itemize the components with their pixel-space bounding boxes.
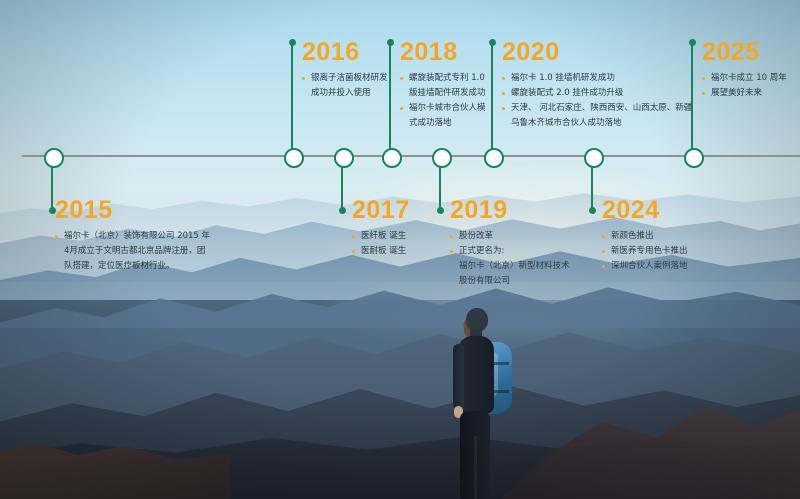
milestone-item: 股份改革: [450, 230, 570, 243]
milestone-items-2015: 福尔卡（北京）装饰有限公司 2015 年4月成立于文明古都北京品牌注册，团队搭建…: [55, 230, 210, 273]
milestone-item: 正式更名为:: [450, 245, 570, 258]
milestone-block-2015: 2015福尔卡（北京）装饰有限公司 2015 年4月成立于文明古都北京品牌注册，…: [55, 198, 210, 275]
milestone-item: 螺旋装配式专利 1.0: [400, 72, 486, 85]
milestone-item: 天津、 河北石家庄、陕西西安、山西太原、新疆: [502, 102, 692, 115]
milestone-tip-dot-2018: [387, 39, 394, 46]
milestone-block-2020: 2020福尔卡 1.0 挂墙机研发成功螺旋装配式 2.0 挂件成功升级天津、 河…: [502, 40, 692, 132]
milestone-year-label-2015: 2015: [55, 198, 210, 223]
milestone-item: 成功并投入使用: [302, 87, 388, 100]
milestone-node-2015[interactable]: [44, 148, 64, 168]
milestone-item: 队搭建，定位医疗板材行业。: [55, 260, 210, 273]
milestone-year-label-2016: 2016: [302, 40, 388, 65]
milestone-items-2018: 螺旋装配式专利 1.0版挂墙配件研发成功福尔卡城市合伙人模式成功落地: [400, 72, 486, 130]
milestone-block-2018: 2018螺旋装配式专利 1.0版挂墙配件研发成功福尔卡城市合伙人模式成功落地: [400, 40, 486, 132]
milestone-item: 医耐板 诞生: [352, 245, 410, 258]
milestone-node-2020[interactable]: [484, 148, 504, 168]
milestone-year-label-2019: 2019: [450, 198, 570, 223]
milestone-tip-dot-2024: [589, 207, 596, 214]
milestone-node-2025[interactable]: [684, 148, 704, 168]
milestone-year-label-2025: 2025: [702, 40, 787, 65]
milestone-year-label-2020: 2020: [502, 40, 692, 65]
milestone-stem-2018: [389, 42, 391, 156]
milestone-item: 银离子洁菌板材研发: [302, 72, 388, 85]
milestone-item: 深圳合伙人案例落地: [602, 260, 688, 273]
milestone-items-2025: 福尔卡成立 10 周年展望美好未来: [702, 72, 787, 100]
milestone-node-2017[interactable]: [334, 148, 354, 168]
milestone-tip-dot-2019: [437, 207, 444, 214]
milestone-item: 福尔卡 1.0 挂墙机研发成功: [502, 72, 692, 85]
milestone-node-2019[interactable]: [432, 148, 452, 168]
milestone-node-2024[interactable]: [584, 148, 604, 168]
milestone-tip-dot-2016: [289, 39, 296, 46]
milestone-item: 展望美好未来: [702, 87, 787, 100]
milestone-tip-dot-2020: [489, 39, 496, 46]
milestone-items-2017: 医纤板 诞生医耐板 诞生: [352, 230, 410, 258]
milestone-item: 医纤板 诞生: [352, 230, 410, 243]
milestone-tip-dot-2017: [339, 207, 346, 214]
milestone-block-2017: 2017医纤板 诞生医耐板 诞生: [352, 198, 410, 260]
milestone-item: 螺旋装配式 2.0 挂件成功升级: [502, 87, 692, 100]
milestone-stem-2016: [291, 42, 293, 156]
milestone-node-2016[interactable]: [284, 148, 304, 168]
milestone-item: 福尔卡（北京）装饰有限公司 2015 年: [55, 230, 210, 243]
milestone-item: 福尔卡城市合伙人模: [400, 102, 486, 115]
milestone-items-2016: 银离子洁菌板材研发成功并投入使用: [302, 72, 388, 100]
milestone-item: 新医养专用色卡推出: [602, 245, 688, 258]
milestone-item: 新颜色推出: [602, 230, 688, 243]
milestone-items-2020: 福尔卡 1.0 挂墙机研发成功螺旋装配式 2.0 挂件成功升级天津、 河北石家庄…: [502, 72, 692, 130]
milestone-item: 4月成立于文明古都北京品牌注册，团: [55, 245, 210, 258]
milestone-item: 股份有限公司: [450, 275, 570, 288]
milestone-year-label-2024: 2024: [602, 198, 688, 223]
timeline-infographic: 2015福尔卡（北京）装饰有限公司 2015 年4月成立于文明古都北京品牌注册，…: [0, 0, 800, 499]
milestone-item: 式成功落地: [400, 117, 486, 130]
milestone-node-2018[interactable]: [382, 148, 402, 168]
milestone-item: 版挂墙配件研发成功: [400, 87, 486, 100]
milestone-items-2024: 新颜色推出新医养专用色卡推出深圳合伙人案例落地: [602, 230, 688, 273]
milestone-item: 乌鲁木齐城市合伙人成功落地: [502, 117, 692, 130]
milestone-block-2025: 2025福尔卡成立 10 周年展望美好未来: [702, 40, 787, 102]
milestone-stem-2020: [491, 42, 493, 156]
milestone-item: 福尔卡（北京）新型材料技术: [450, 260, 570, 273]
milestone-items-2019: 股份改革正式更名为:福尔卡（北京）新型材料技术股份有限公司: [450, 230, 570, 288]
milestone-block-2019: 2019股份改革正式更名为:福尔卡（北京）新型材料技术股份有限公司: [450, 198, 570, 290]
milestone-block-2024: 2024新颜色推出新医养专用色卡推出深圳合伙人案例落地: [602, 198, 688, 275]
milestone-item: 福尔卡成立 10 周年: [702, 72, 787, 85]
milestone-year-label-2017: 2017: [352, 198, 410, 223]
milestone-year-label-2018: 2018: [400, 40, 486, 65]
milestone-block-2016: 2016银离子洁菌板材研发成功并投入使用: [302, 40, 388, 102]
